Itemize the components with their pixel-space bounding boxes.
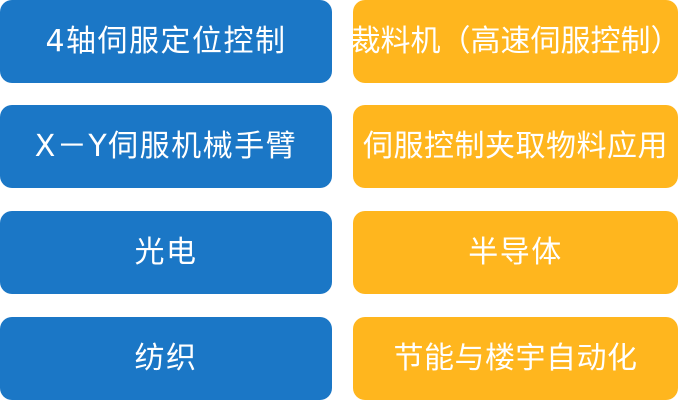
category-button-label: 节能与楼宇自动化 — [394, 344, 638, 374]
category-button-servo-material-pickup[interactable]: 伺服控制夹取物料应用 — [353, 105, 678, 188]
category-button-cutting-machine[interactable]: 裁料机（高速伺服控制） — [353, 0, 678, 83]
category-button-servo-4-axis[interactable]: 4轴伺服定位控制 — [0, 0, 332, 83]
category-button-textile[interactable]: 纺织 — [0, 317, 332, 400]
category-button-label: 4轴伺服定位控制 — [45, 27, 286, 57]
category-button-label: 半导体 — [468, 238, 563, 268]
category-button-label: 裁料机（高速伺服控制） — [351, 27, 681, 57]
category-button-photoelectric[interactable]: 光电 — [0, 211, 332, 294]
category-button-label: X－Y伺服机械手臂 — [35, 132, 297, 162]
category-button-xy-robot-arm[interactable]: X－Y伺服机械手臂 — [0, 105, 332, 188]
category-button-label: 伺服控制夹取物料应用 — [363, 132, 668, 162]
category-button-semiconductor[interactable]: 半导体 — [353, 211, 678, 294]
category-button-label: 光电 — [135, 238, 198, 268]
category-button-board: 4轴伺服定位控制 裁料机（高速伺服控制） X－Y伺服机械手臂 伺服控制夹取物料应… — [0, 0, 686, 401]
category-button-label: 纺织 — [135, 344, 198, 374]
category-button-energy-building-automation[interactable]: 节能与楼宇自动化 — [353, 317, 678, 400]
